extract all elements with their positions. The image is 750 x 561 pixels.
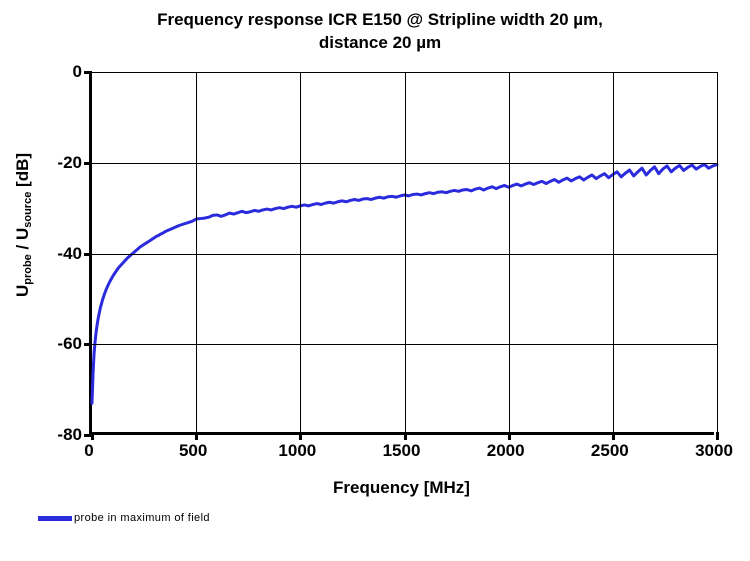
gridline-vertical <box>300 72 301 435</box>
x-axis-tick <box>195 432 198 440</box>
y-axis-tick <box>84 71 92 74</box>
x-axis-tick-label: 0 <box>84 441 93 461</box>
x-axis-tick <box>612 432 615 440</box>
y-axis-tick <box>84 162 92 165</box>
y-axis-tick-label: -80 <box>57 425 82 445</box>
y-axis-tick-label: 0 <box>73 62 82 82</box>
y-axis-tick <box>84 343 92 346</box>
y-axis-tick-label: -40 <box>57 244 82 264</box>
x-axis-tick <box>716 432 719 440</box>
x-axis-tick-label: 2500 <box>591 441 629 461</box>
plot-area <box>89 72 714 435</box>
chart-title-line1: Frequency response ICR E150 @ Stripline … <box>157 10 603 29</box>
x-axis-tick-label: 2000 <box>487 441 525 461</box>
y-axis-tick-label: -20 <box>57 153 82 173</box>
gridline-vertical <box>717 72 718 435</box>
y-axis-tick <box>84 253 92 256</box>
x-axis-tick-label: 1000 <box>278 441 316 461</box>
x-axis-tick-label: 500 <box>179 441 207 461</box>
legend-color-swatch <box>38 516 72 521</box>
x-axis-tick <box>299 432 302 440</box>
chart-container: Frequency response ICR E150 @ Stripline … <box>0 0 750 561</box>
x-axis-tick-labels: 050010001500200025003000 <box>89 441 714 465</box>
gridline-vertical <box>405 72 406 435</box>
gridline-vertical <box>509 72 510 435</box>
x-axis-tick-label: 1500 <box>383 441 421 461</box>
x-axis-tick <box>404 432 407 440</box>
x-axis-title: Frequency [MHz] <box>89 478 714 498</box>
gridline-vertical <box>613 72 614 435</box>
chart-legend: probe in maximum of field <box>38 512 210 524</box>
y-axis-tick-label: -60 <box>57 334 82 354</box>
legend-label: probe in maximum of field <box>74 512 210 524</box>
chart-title-line2: distance 20 µm <box>60 31 700 54</box>
chart-title: Frequency response ICR E150 @ Stripline … <box>60 8 700 54</box>
y-axis-tick-labels: 0-20-40-60-80 <box>20 72 82 435</box>
x-axis-tick <box>91 432 94 440</box>
x-axis-tick <box>508 432 511 440</box>
gridline-vertical <box>196 72 197 435</box>
x-axis-tick-label: 3000 <box>695 441 733 461</box>
